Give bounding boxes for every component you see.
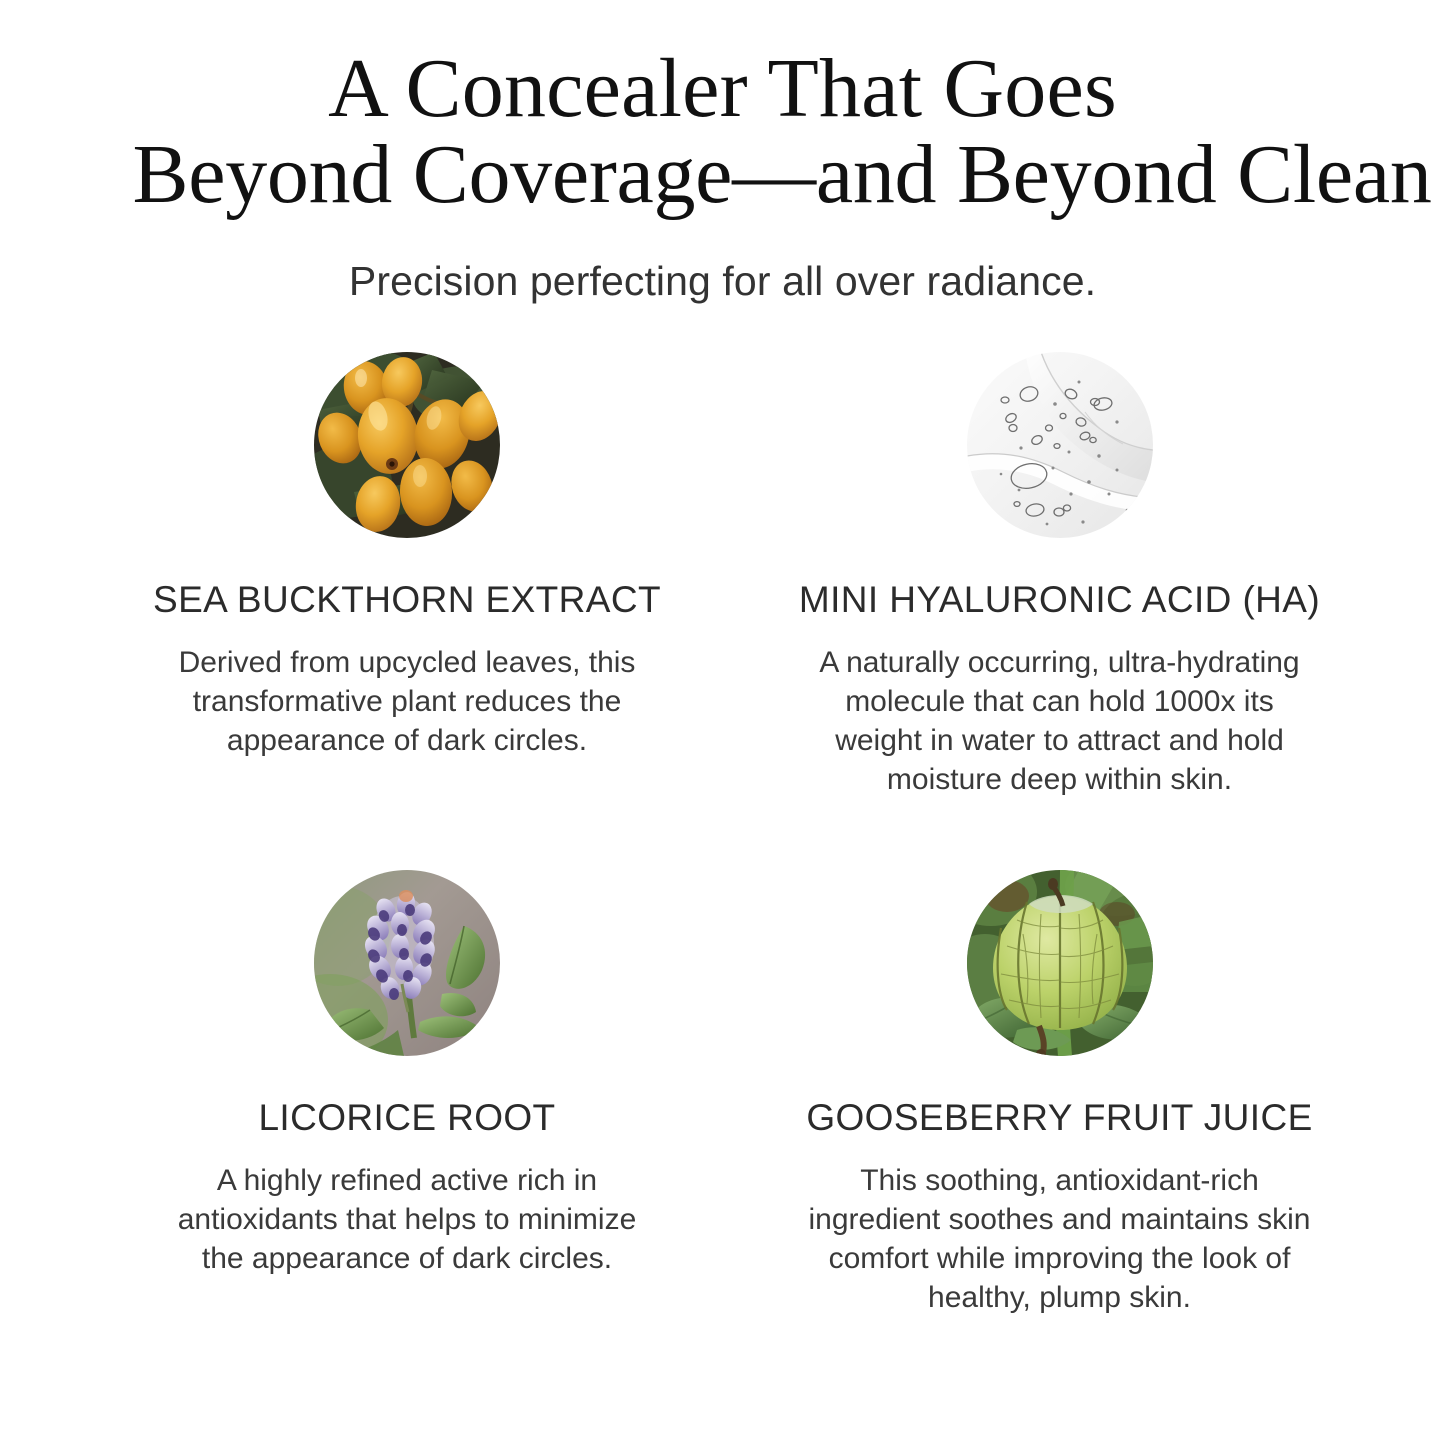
ingredient-title: LICORICE ROOT <box>258 1098 555 1139</box>
headline-line-1: A Concealer That Goes <box>133 46 1313 132</box>
page-title: A Concealer That Goes Beyond Coverage—an… <box>133 46 1313 217</box>
ingredient-grid: SEA BUCKTHORN EXTRACT Derived from upcyc… <box>0 352 1445 1317</box>
ingredient-card-mini-hyaluronic-acid: MINI HYALURONIC ACID (HA) A naturally oc… <box>722 352 1445 870</box>
ingredient-title: MINI HYALURONIC ACID (HA) <box>799 580 1320 621</box>
ingredient-title: GOOSEBERRY FRUIT JUICE <box>806 1098 1312 1139</box>
clear-gel-texture-photo <box>967 352 1153 538</box>
gooseberry-husk-photo <box>967 870 1153 1056</box>
ingredient-card-licorice-root: LICORICE ROOT A highly refined active ri… <box>0 870 722 1317</box>
ingredient-card-sea-buckthorn-extract: SEA BUCKTHORN EXTRACT Derived from upcyc… <box>0 352 722 870</box>
sea-buckthorn-berries-photo <box>314 352 500 538</box>
ingredient-title: SEA BUCKTHORN EXTRACT <box>153 580 661 621</box>
ingredient-description: A naturally occurring, ultra-hydrating m… <box>800 643 1320 799</box>
ingredient-description: A highly refined active rich in antioxid… <box>172 1161 642 1278</box>
page-subtitle: Precision perfecting for all over radian… <box>0 257 1445 306</box>
headline-line-2: Beyond Coverage—and Beyond Clean <box>133 132 1313 218</box>
ingredient-benefits-infographic: A Concealer That Goes Beyond Coverage—an… <box>0 0 1445 1445</box>
header: A Concealer That Goes Beyond Coverage—an… <box>0 0 1445 307</box>
ingredient-card-gooseberry-fruit-juice: GOOSEBERRY FRUIT JUICE This soothing, an… <box>722 870 1445 1317</box>
ingredient-description: Derived from upcycled leaves, this trans… <box>172 643 642 760</box>
ingredient-description: This soothing, antioxidant-rich ingredie… <box>800 1161 1320 1317</box>
licorice-flower-photo <box>314 870 500 1056</box>
